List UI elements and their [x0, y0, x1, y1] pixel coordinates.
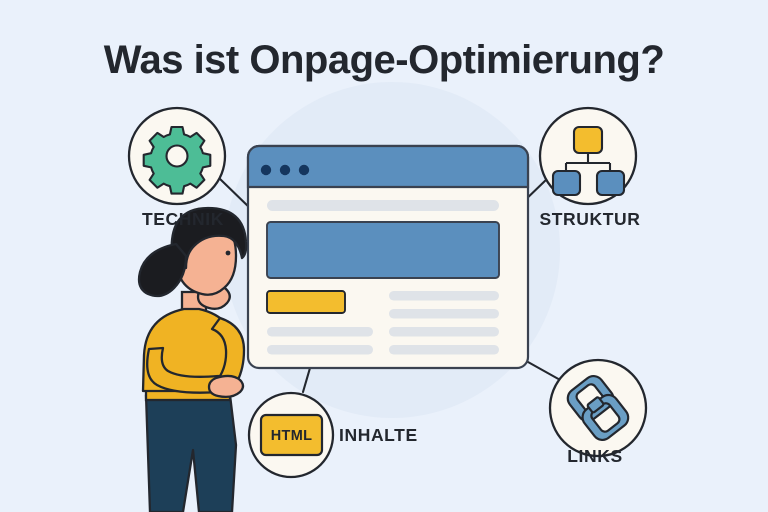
sitemap-node-right	[597, 171, 624, 195]
node-links-label: LINKS	[567, 446, 623, 466]
browser-titlebar	[248, 146, 528, 187]
person-hand-resting	[209, 376, 243, 397]
node-struktur-label: STRUKTUR	[539, 209, 640, 229]
window-dot-maximize[interactable]	[299, 165, 309, 175]
placeholder-line	[267, 327, 373, 337]
browser-window[interactable]	[248, 146, 528, 368]
placeholder-line	[389, 345, 499, 355]
window-dot-close[interactable]	[261, 165, 271, 175]
sitemap-node-left	[553, 171, 580, 195]
node-struktur[interactable]: STRUKTUR	[539, 108, 640, 229]
placeholder-line	[267, 345, 373, 355]
placeholder-line	[389, 327, 499, 337]
node-inhalte-label: INHALTE	[339, 425, 418, 445]
placeholder-line	[389, 309, 499, 319]
sitemap-node-root	[574, 127, 602, 153]
window-dots[interactable]	[261, 165, 309, 175]
node-technik-label: TECHNIK	[142, 209, 224, 229]
page-title: Was ist Onpage-Optimierung?	[104, 38, 665, 82]
person-eye	[226, 251, 231, 256]
cta-button[interactable]	[267, 291, 345, 313]
window-dot-minimize[interactable]	[280, 165, 290, 175]
html-badge-text: HTML	[271, 428, 312, 444]
gear-icon	[144, 127, 211, 194]
infographic-canvas: Was ist Onpage-Optimierung?	[0, 0, 768, 512]
placeholder-headline-bar	[267, 200, 499, 211]
node-technik[interactable]: TECHNIK	[129, 108, 225, 229]
placeholder-line	[389, 291, 499, 301]
html-badge-icon: HTML	[261, 415, 322, 455]
hero-block	[267, 222, 499, 278]
